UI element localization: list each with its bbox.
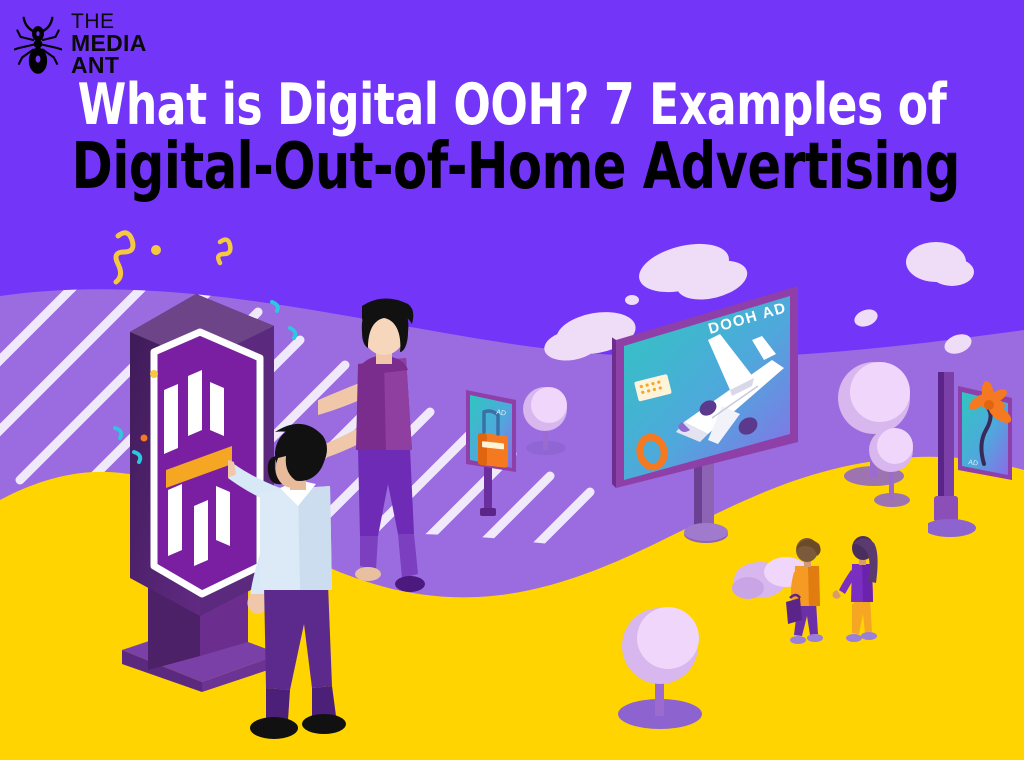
- suitcase-ad-panel[interactable]: AD: [452, 386, 532, 516]
- poster-canvas: AD DOOH AD: [0, 0, 1024, 760]
- brand-logo[interactable]: THE MEDIA ANT: [14, 12, 147, 76]
- pedestrian-group: [786, 536, 896, 656]
- logo-line-media: MEDIA: [71, 32, 147, 54]
- pedestrian-with-bag: [786, 538, 823, 644]
- man-touching-kiosk: [228, 418, 408, 758]
- flower-ad-banner[interactable]: AD: [928, 372, 1024, 552]
- pedestrian-woman: [833, 536, 878, 642]
- headline-line-2: Digital-Out-of-Home Advertising: [72, 137, 953, 198]
- logo-wordmark: THE MEDIA ANT: [71, 12, 147, 76]
- ant-icon: [14, 13, 62, 75]
- dooh-billboard[interactable]: DOOH AD: [612, 282, 822, 552]
- logo-line-the: THE: [71, 12, 147, 32]
- headline-line-1: What is Digital OOH? 7 Examples of: [72, 78, 953, 133]
- page-title: What is Digital OOH? 7 Examples of Digit…: [0, 78, 1024, 198]
